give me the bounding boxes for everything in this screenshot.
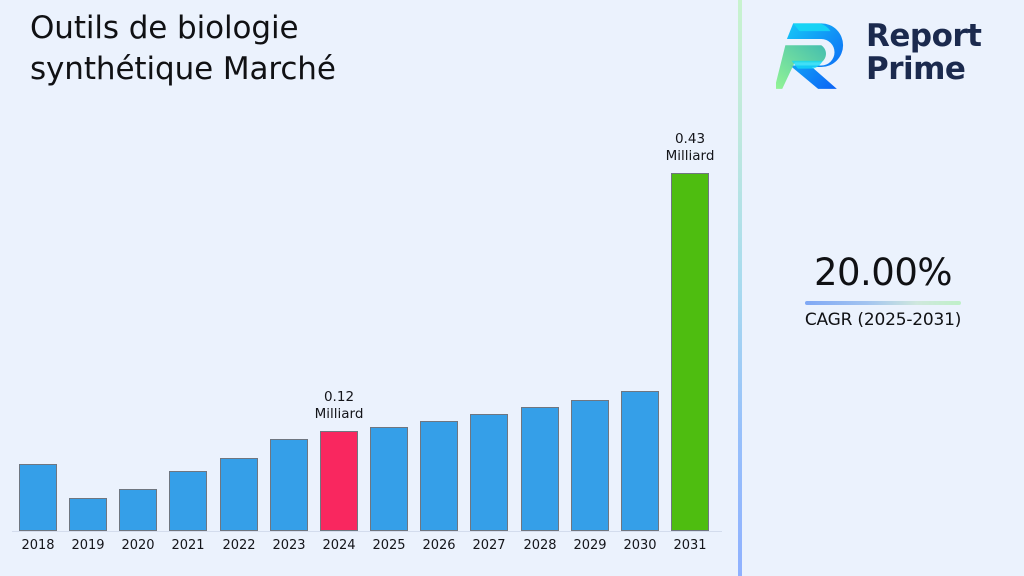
x-axis-tick-2018: 2018 xyxy=(13,538,63,553)
bar-2021 xyxy=(169,471,207,531)
bar-value-label-2031: 0.43 Milliard xyxy=(666,131,715,166)
bar-2023 xyxy=(270,439,308,531)
x-axis-tick-2030: 2030 xyxy=(615,538,665,553)
x-axis-tick-2026: 2026 xyxy=(414,538,464,553)
x-axis-tick-2023: 2023 xyxy=(264,538,314,553)
bar-2020 xyxy=(119,489,157,531)
bar-chart: 0.12 Milliard0.43 Milliard 2018201920202… xyxy=(0,0,738,576)
chart-plot-area: 0.12 Milliard0.43 Milliard xyxy=(0,0,738,532)
x-axis-tick-2028: 2028 xyxy=(515,538,565,553)
x-axis-baseline xyxy=(12,531,722,532)
bar-2029 xyxy=(571,400,609,531)
bar-2018 xyxy=(19,464,57,531)
bar-value-label-2024: 0.12 Milliard xyxy=(315,389,364,424)
x-axis-tick-2025: 2025 xyxy=(364,538,414,553)
cagr-divider-rule xyxy=(805,301,961,305)
cagr-block: 20.00% CAGR (2025-2031) xyxy=(742,252,1024,330)
bar-2031 xyxy=(671,173,709,531)
brand-logo: Report Prime xyxy=(776,12,1016,94)
report-prime-logo-mark-icon xyxy=(776,14,854,92)
cagr-caption: CAGR (2025-2031) xyxy=(742,310,1024,330)
market-report-infographic: Outils de biologie synthétique Marché 0.… xyxy=(0,0,1024,576)
bar-2019 xyxy=(69,498,107,531)
x-axis-tick-2021: 2021 xyxy=(163,538,213,553)
right-panel: Report Prime 20.00% CAGR (2025-2031) xyxy=(742,0,1024,576)
x-axis-tick-2020: 2020 xyxy=(113,538,163,553)
bar-2026 xyxy=(420,421,458,531)
x-axis-tick-2031: 2031 xyxy=(665,538,715,553)
bar-2025 xyxy=(370,427,408,531)
x-axis-tick-2027: 2027 xyxy=(464,538,514,553)
bar-2024 xyxy=(320,431,358,531)
bar-2022 xyxy=(220,458,258,531)
brand-logo-text: Report Prime xyxy=(866,20,982,86)
x-axis-tick-2022: 2022 xyxy=(214,538,264,553)
bar-2028 xyxy=(521,407,559,531)
bar-2027 xyxy=(470,414,508,531)
x-axis-tick-2019: 2019 xyxy=(63,538,113,553)
x-axis-tick-2029: 2029 xyxy=(565,538,615,553)
cagr-value: 20.00% xyxy=(742,252,1024,295)
bar-2030 xyxy=(621,391,659,531)
x-axis-tick-2024: 2024 xyxy=(314,538,364,553)
